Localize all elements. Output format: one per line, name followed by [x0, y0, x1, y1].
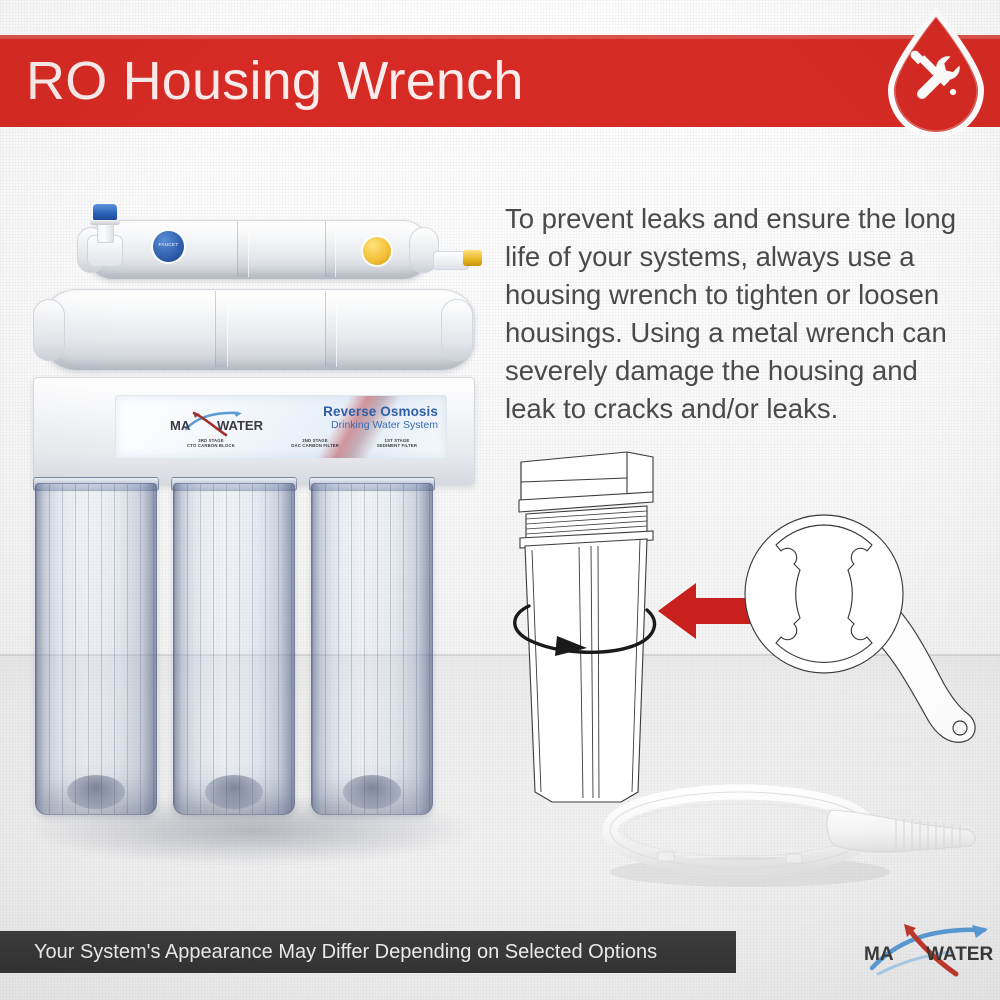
stage-label-1: 1ST STAGE SEDIMENT FILTER [356, 438, 438, 449]
white-plastic-housing-wrench [600, 768, 980, 898]
blue-valve-cap [93, 204, 117, 221]
description-text: To prevent leaks and ensure the long lif… [505, 200, 975, 428]
membrane-bottom-band-b [325, 291, 337, 367]
housing-wrench-line-drawing [728, 498, 1000, 750]
stage-1-media: SEDIMENT FILTER [356, 443, 438, 448]
membrane-bottom-cap-left [33, 299, 65, 361]
housing-sump [525, 539, 647, 802]
membrane-band-b [325, 221, 336, 277]
filter-housing-1 [35, 483, 157, 815]
svg-text:WATER: WATER [217, 418, 264, 433]
faucet-sticker: FAUCET [153, 231, 184, 262]
stage-3-media: CTO CARBON BLOCK [168, 443, 254, 448]
yellow-sticker [363, 237, 391, 265]
filter-housing-2 [173, 483, 295, 815]
svg-text:MA: MA [170, 418, 191, 433]
max-water-logo: MA WATER [858, 922, 996, 984]
label-stage-list: 3RD STAGE CTO CARBON BLOCK 2ND STAGE GAC… [116, 438, 446, 456]
wrench-photo-handle [827, 810, 975, 852]
page-title: RO Housing Wrench [26, 44, 524, 118]
membrane-bottom-band-a [215, 291, 228, 367]
disclaimer-text: Your System's Appearance May Differ Depe… [34, 939, 657, 965]
membrane-housing-bottom [43, 289, 475, 371]
infographic-canvas: RO Housing Wrench To prevent leaks and e… [0, 0, 1000, 1000]
stage-2-media: GAC CARBON FILTER [272, 443, 358, 448]
wrench-hanging-hole [953, 721, 967, 735]
product-label: MA WATER Reverse Osmosis Drinking Water … [115, 395, 447, 459]
membrane-band-a [237, 221, 249, 277]
label-title-line1: Reverse Osmosis [323, 404, 438, 419]
label-system-title: Reverse Osmosis Drinking Water System [323, 404, 438, 431]
water-drop-icon [880, 8, 992, 140]
logo-text-water: WATER [926, 944, 993, 965]
faucet-sticker-label: FAUCET [153, 242, 184, 247]
stage-label-3: 3RD STAGE CTO CARBON BLOCK [168, 438, 254, 449]
stage-label-2: 2ND STAGE GAC CARBON FILTER [272, 438, 358, 449]
membrane-bottom-cap-right [441, 299, 473, 361]
yellow-valve-cap [463, 250, 482, 266]
label-title-line2: Drinking Water System [323, 419, 438, 431]
label-max-water-logo: MA WATER [164, 410, 274, 438]
reverse-osmosis-system-photo: FAUCET MA WATER [25, 195, 495, 875]
logo-text-ma: MA [864, 944, 894, 965]
water-drop-tools-logo [880, 8, 992, 140]
filter-housing-3 [311, 483, 433, 815]
